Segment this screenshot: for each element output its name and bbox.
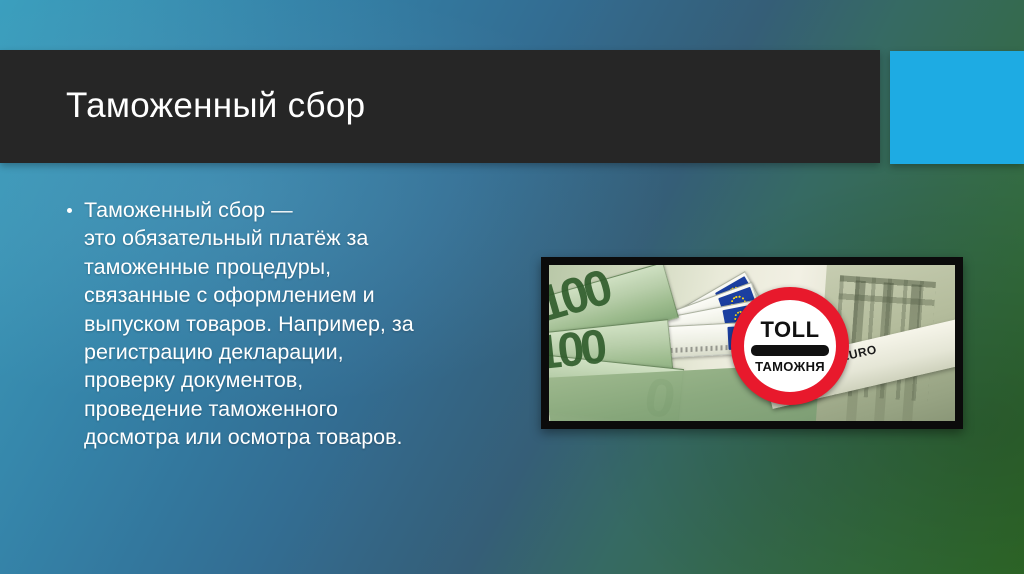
tamozhnya-label: ТАМОЖНЯ <box>755 360 825 373</box>
accent-block <box>890 51 1024 164</box>
list-item: Таможенный сбор — это обязательный платё… <box>62 196 492 452</box>
slide-image: 100 100 0 100 EURO TOLL ТАМОЖНЯ <box>541 257 963 429</box>
bullet-dot-icon <box>67 208 72 213</box>
page-title: Таможенный сбор <box>66 86 365 126</box>
toll-bar <box>751 345 829 356</box>
toll-sign-icon: TOLL ТАМОЖНЯ <box>731 287 849 405</box>
body-content: Таможенный сбор — это обязательный платё… <box>62 196 492 452</box>
image-content: 100 100 0 100 EURO TOLL ТАМОЖНЯ <box>549 265 955 421</box>
toll-label: TOLL <box>760 319 819 341</box>
title-bar: Таможенный сбор <box>0 50 880 163</box>
presentation-slide: Таможенный сбор Таможенный сбор — это об… <box>0 0 1024 574</box>
banknote-denomination: 100 <box>549 320 606 382</box>
body-paragraph: Таможенный сбор — это обязательный платё… <box>84 196 492 452</box>
